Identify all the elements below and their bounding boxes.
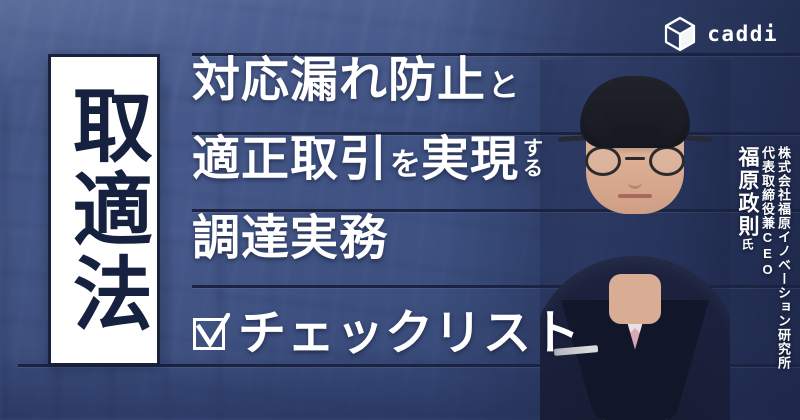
headline-line-3: 調達実務 bbox=[192, 215, 592, 294]
speaker-role: 代表取締役兼CEO bbox=[761, 146, 774, 278]
speaker-honorific: 氏 bbox=[740, 238, 754, 252]
speaker-name: 福原政則氏 bbox=[737, 146, 758, 252]
headline-line-2-main-a: 適正取引 bbox=[192, 136, 388, 184]
headline-line-2-suffix-bottom: る bbox=[523, 159, 543, 179]
headline-line-2-main-b: 実現 bbox=[421, 136, 519, 184]
portrait-hair bbox=[580, 76, 690, 148]
portrait-glasses-bridge bbox=[625, 157, 645, 160]
headline-block: 対応漏れ防止 と 適正取引 を 実現 す る 調達実務 チェックリスト bbox=[192, 53, 592, 373]
portrait-mouth bbox=[618, 194, 652, 198]
cube-icon bbox=[663, 16, 697, 52]
headline-line-3-main: 調達実務 bbox=[192, 215, 388, 263]
portrait-neck bbox=[609, 274, 661, 324]
portrait-nose bbox=[628, 170, 642, 189]
headline-line-2-suffix: す る bbox=[523, 139, 543, 180]
speaker-company: 株式会社福原イノベーション研究所 bbox=[777, 146, 790, 370]
marketing-banner: 取適法 対応漏れ防止 と 適正取引 を 実現 す る 調達実務 bbox=[0, 0, 800, 420]
vertical-title-plate: 取適法 bbox=[48, 54, 160, 366]
headline-line-1-main: 対応漏れ防止 bbox=[192, 57, 486, 105]
headline-line-4: チェックリスト bbox=[192, 294, 592, 373]
headline-line-2: 適正取引 を 実現 す る bbox=[192, 136, 592, 215]
headline-line-2-particle: を bbox=[388, 149, 421, 180]
caddi-logo: caddi bbox=[663, 16, 778, 52]
checkbox-checked-icon bbox=[192, 313, 230, 351]
headline-line-4-main: チェックリスト bbox=[238, 310, 581, 358]
speaker-credit: 福原政則氏 代表取締役兼CEO 株式会社福原イノベーション研究所 bbox=[737, 146, 790, 370]
headline-line-1-suffix: と bbox=[486, 70, 519, 101]
speaker-name-text: 福原政則 bbox=[736, 146, 759, 238]
headline-line-1: 対応漏れ防止 と bbox=[192, 57, 592, 136]
caddi-wordmark: caddi bbox=[707, 22, 778, 46]
vertical-title-text: 取適法 bbox=[59, 84, 149, 336]
headline-line-2-suffix-top: す bbox=[523, 139, 543, 159]
